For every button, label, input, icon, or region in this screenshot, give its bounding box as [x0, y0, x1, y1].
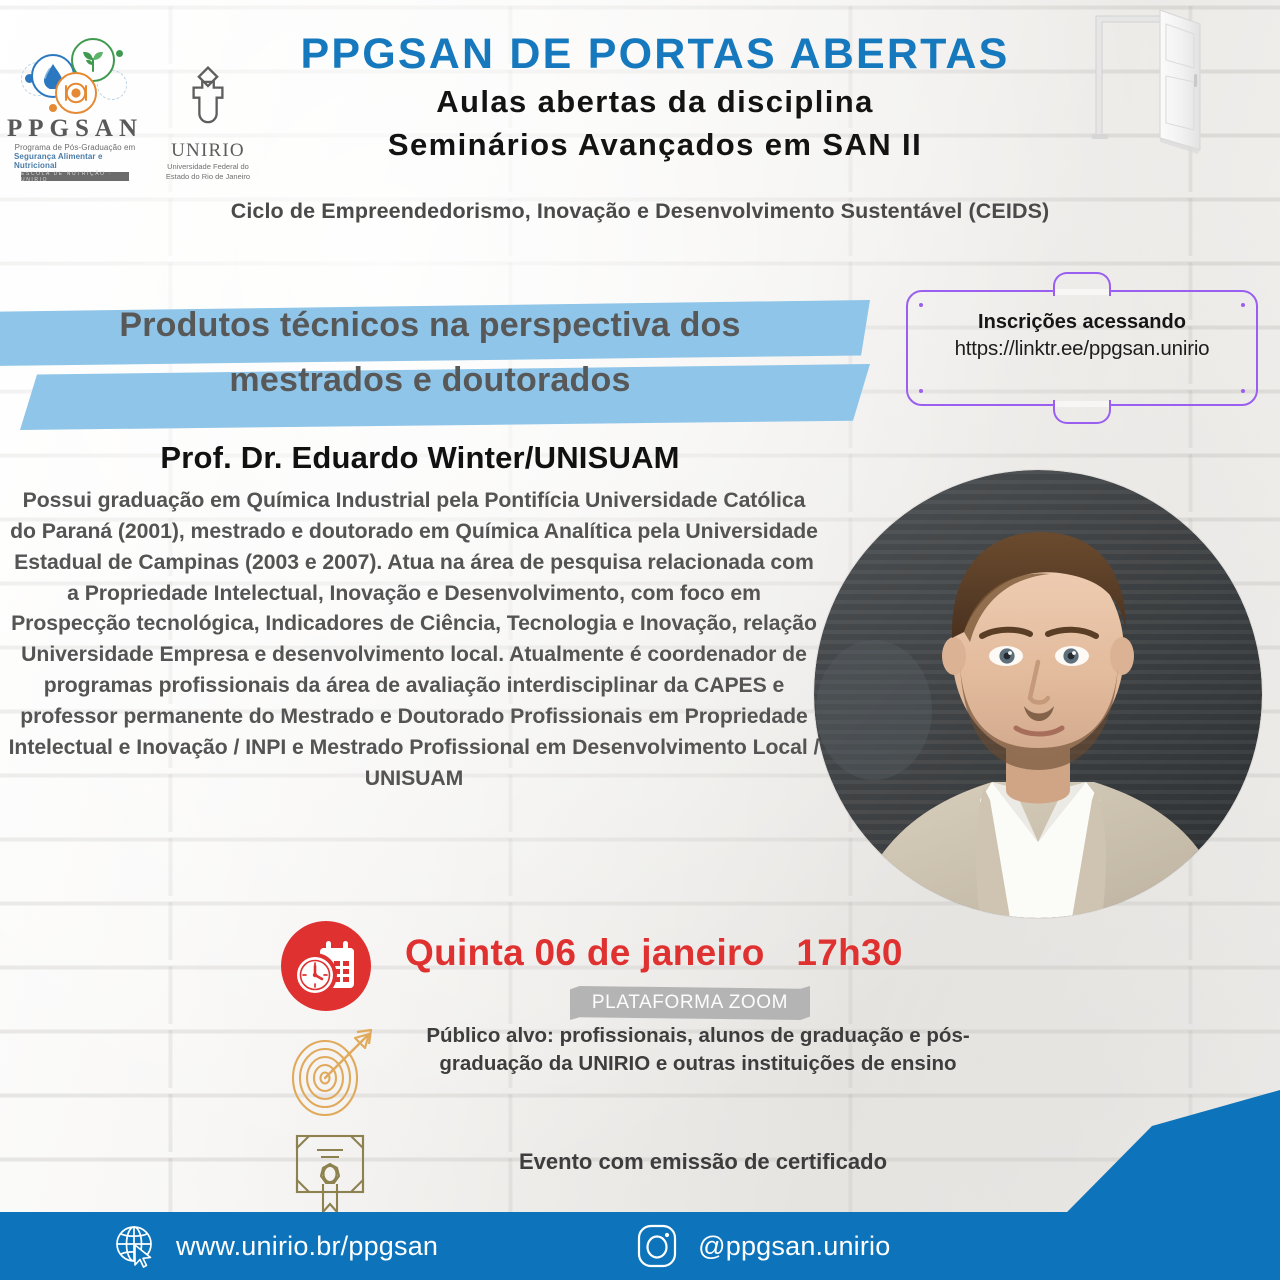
- unirio-tagline-2: Estado do Rio de Janeiro: [166, 172, 250, 181]
- certificate-text: Evento com emissão de certificado: [403, 1132, 1003, 1175]
- globe-cursor-icon: [112, 1223, 158, 1269]
- target-audience-row: Público alvo: profissionais, alunos de g…: [285, 1022, 1015, 1079]
- footer-website-text: www.unirio.br/ppgsan: [176, 1231, 438, 1262]
- footer-website[interactable]: www.unirio.br/ppgsan: [112, 1223, 438, 1269]
- ppgsan-footer-bar: ESCOLA DE NUTRIÇÃO · UNIRIO: [21, 172, 129, 181]
- speaker-name: Prof. Dr. Eduardo Winter/UNISUAM: [0, 440, 840, 476]
- target-arrow-icon: [285, 1026, 377, 1118]
- footer-instagram-text: @ppgsan.unirio: [698, 1231, 890, 1262]
- headline-sub-line-1: Aulas abertas da disciplina: [150, 81, 1160, 124]
- target-audience-text: Público alvo: profissionais, alunos de g…: [403, 1022, 993, 1079]
- event-date-time: Quinta 06 de janeiro 17h30: [405, 932, 903, 974]
- event-date-row: Quinta 06 de janeiro 17h30 PLATAFORMA ZO…: [280, 918, 1000, 1014]
- certificate-row: Evento com emissão de certificado: [285, 1132, 1015, 1175]
- headline-sub-line-2: Seminários Avançados em SAN II: [150, 124, 1160, 167]
- registration-label: Inscrições acessando: [906, 311, 1258, 334]
- poster-headline: PPGSAN DE PORTAS ABERTAS Aulas abertas d…: [0, 32, 1280, 167]
- certificate-icon: [293, 1132, 371, 1218]
- talk-title: Produtos técnicos na perspectiva dos mes…: [0, 292, 860, 408]
- speaker-portrait-image: [814, 470, 1262, 918]
- series-subtitle: Ciclo de Empreendedorismo, Inovação e De…: [0, 199, 1280, 224]
- footer-instagram[interactable]: @ppgsan.unirio: [634, 1223, 890, 1269]
- registration-box[interactable]: Inscrições acessando https://linktr.ee/p…: [906, 290, 1258, 406]
- frame-dot-bottom-right: [1241, 389, 1245, 393]
- platform-banner: PLATAFORMA ZOOM: [570, 986, 810, 1020]
- page-title: PPGSAN DE PORTAS ABERTAS: [150, 32, 1160, 77]
- calendar-clock-icon: [280, 920, 372, 1012]
- instagram-icon: [634, 1223, 680, 1269]
- footer-bar: www.unirio.br/ppgsan @ppgsan.unirio: [0, 1212, 1280, 1280]
- headline-subtitle: Aulas abertas da disciplina Seminários A…: [150, 81, 1160, 167]
- platform-label: PLATAFORMA ZOOM: [570, 986, 810, 1020]
- speaker-bio: Possui graduação em Química Industrial p…: [8, 486, 820, 794]
- registration-link[interactable]: https://linktr.ee/ppgsan.unirio: [906, 337, 1258, 361]
- frame-dot-bottom-left: [919, 389, 923, 393]
- speaker-photo: [814, 470, 1262, 918]
- talk-title-line-1: Produtos técnicos na perspectiva dos: [0, 298, 860, 353]
- talk-title-block: Produtos técnicos na perspectiva dos mes…: [0, 292, 880, 434]
- poster-canvas: PPGSAN Programa de Pós-Graduação em Segu…: [0, 0, 1280, 1280]
- talk-title-line-2: mestrados e doutorados: [0, 353, 860, 408]
